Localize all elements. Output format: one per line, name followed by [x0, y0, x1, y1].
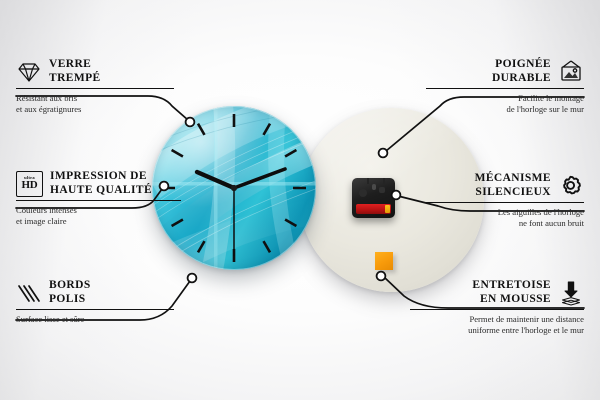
feature-title: POIGNÉE DURABLE: [492, 58, 551, 85]
feature-divider: [426, 88, 584, 89]
feature-divider: [426, 202, 584, 203]
title-line-2: EN MOUSSE: [472, 293, 551, 307]
feature-header: ENTRETOISE EN MOUSSE: [410, 279, 584, 306]
polished-edges-icon: [16, 280, 42, 306]
desc-line-1: Facilite le montage: [426, 93, 584, 104]
feature-title: IMPRESSION DE HAUTE QUALITÉ: [50, 170, 152, 197]
movement-shaft: [372, 184, 376, 190]
movement-detail-b: [379, 187, 385, 193]
movement-detail-a: [359, 189, 367, 197]
feature-header: VERRE TREMPÉ: [16, 58, 174, 85]
feature-divider: [410, 309, 584, 310]
infographic-canvas: VERRE TREMPÉ Résistant aux bris et aux é…: [0, 0, 600, 400]
desc-line-2: de l'horloge sur le mur: [426, 104, 584, 115]
desc-line-2: ne font aucun bruit: [426, 218, 584, 229]
minute-hand: [234, 169, 285, 188]
title-line-1: VERRE: [49, 58, 101, 72]
title-line-1: MÉCANISME: [475, 172, 551, 186]
desc-line-1: Les aiguilles de l'horloge: [426, 207, 584, 218]
feature-header: ultra HD IMPRESSION DE HAUTE QUALITÉ: [16, 170, 181, 197]
foam-spacer: [375, 252, 393, 270]
feature-mecanisme-silencieux: MÉCANISME SILENCIEUX Les aiguilles de l'…: [426, 172, 584, 228]
feature-description: Surface lisse et sûre: [16, 314, 174, 325]
feature-divider: [16, 88, 174, 89]
feature-verre-trempe: VERRE TREMPÉ Résistant aux bris et aux é…: [16, 58, 174, 114]
feature-description: Facilite le montage de l'horloge sur le …: [426, 93, 584, 114]
feature-title: VERRE TREMPÉ: [49, 58, 101, 85]
feature-title: BORDS POLIS: [49, 279, 91, 306]
ultra-hd-icon: ultra HD: [16, 171, 43, 197]
movement-hanger-icon: [367, 178, 385, 184]
battery: [356, 204, 391, 214]
desc-line-1: Couleurs intenses: [16, 205, 181, 216]
quartz-movement: [352, 178, 395, 218]
feature-description: Les aiguilles de l'horloge ne font aucun…: [426, 207, 584, 228]
gear-icon: [558, 173, 584, 199]
feature-description: Permet de maintenir une distance uniform…: [410, 314, 584, 335]
feature-description: Couleurs intenses et image claire: [16, 205, 181, 226]
title-line-2: DURABLE: [492, 72, 551, 86]
title-line-1: ENTRETOISE: [472, 279, 551, 293]
desc-line-2: et image claire: [16, 216, 181, 227]
title-line-1: IMPRESSION DE: [50, 170, 152, 184]
title-line-2: SILENCIEUX: [475, 186, 551, 200]
desc-line-1: Permet de maintenir une distance: [410, 314, 584, 325]
down-arrow-layers-icon: [558, 280, 584, 306]
title-line-2: HAUTE QUALITÉ: [50, 184, 152, 198]
hands-hub: [231, 185, 237, 191]
wall-frame-hook-icon: [558, 59, 584, 85]
feature-header: BORDS POLIS: [16, 279, 174, 306]
title-line-1: BORDS: [49, 279, 91, 293]
feature-title: ENTRETOISE EN MOUSSE: [472, 279, 551, 306]
desc-line-1: Résistant aux bris: [16, 93, 174, 104]
title-line-1: POIGNÉE: [492, 58, 551, 72]
title-line-2: TREMPÉ: [49, 72, 101, 86]
title-line-2: POLIS: [49, 293, 91, 307]
feature-divider: [16, 309, 174, 310]
desc-line-2: uniforme entre l'horloge et le mur: [410, 325, 584, 336]
diamond-icon: [16, 59, 42, 85]
feature-divider: [16, 200, 181, 201]
desc-line-1: Surface lisse et sûre: [16, 314, 174, 325]
feature-entretoise-en-mousse: ENTRETOISE EN MOUSSE Permet de maintenir…: [410, 279, 584, 335]
feature-impression-haute-qualite: ultra HD IMPRESSION DE HAUTE QUALITÉ Cou…: [16, 170, 181, 226]
ultra-hd-big-label: HD: [21, 180, 37, 191]
feature-poignee-durable: POIGNÉE DURABLE Facilite le montage de l…: [426, 58, 584, 114]
feature-header: MÉCANISME SILENCIEUX: [426, 172, 584, 199]
feature-header: POIGNÉE DURABLE: [426, 58, 584, 85]
feature-title: MÉCANISME SILENCIEUX: [475, 172, 551, 199]
hour-hand: [197, 172, 234, 188]
desc-line-2: et aux égratignures: [16, 104, 174, 115]
feature-description: Résistant aux bris et aux égratignures: [16, 93, 174, 114]
feature-bords-polis: BORDS POLIS Surface lisse et sûre: [16, 279, 174, 325]
